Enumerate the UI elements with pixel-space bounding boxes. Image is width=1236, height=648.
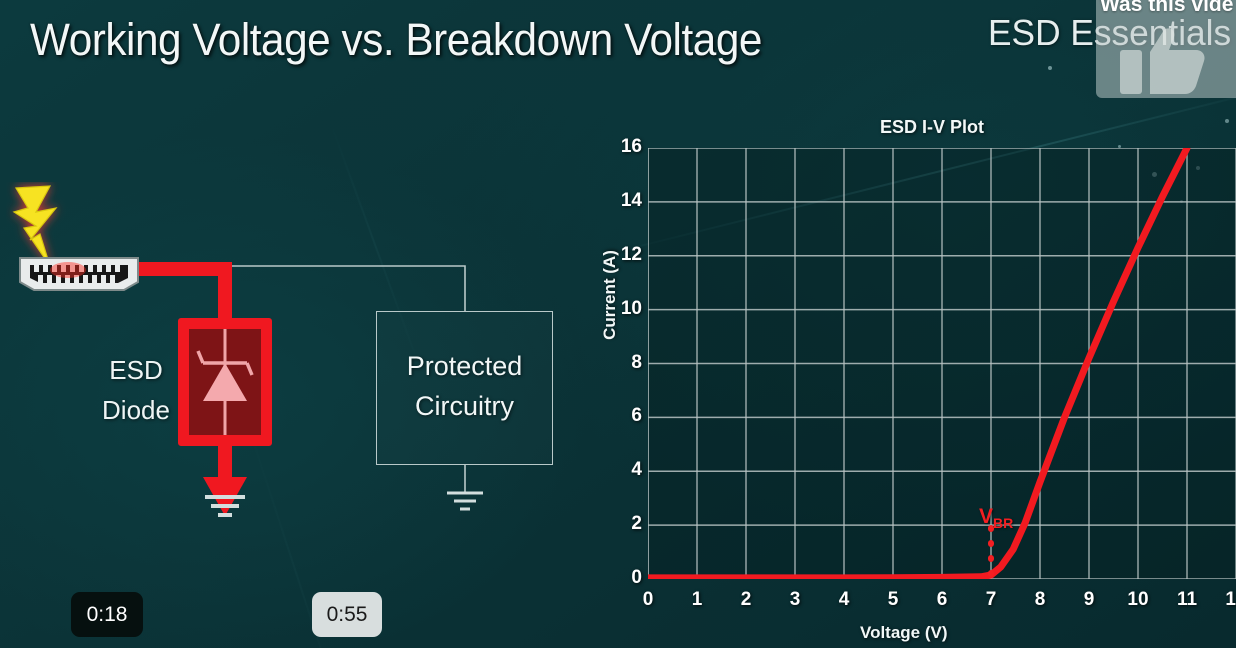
x-axis-tick-label: 9 xyxy=(1069,589,1109,611)
x-axis-tick-label: 0 xyxy=(628,589,668,611)
feedback-overlay[interactable]: Was this vide xyxy=(1096,0,1236,98)
protected-circuitry-block[interactable]: Protected Circuitry xyxy=(376,311,553,465)
circuit-diagram: ESD Diode Protected Circuitry xyxy=(0,0,600,560)
zener-diode-icon xyxy=(189,329,261,435)
protected-circuitry-label: Protected Circuitry xyxy=(377,347,552,427)
x-axis-tick-label: 2 xyxy=(726,589,766,611)
x-axis-label: Voltage (V) xyxy=(860,623,948,643)
x-axis-tick-label: 4 xyxy=(824,589,864,611)
chart-title: ESD I-V Plot xyxy=(880,117,984,138)
hdmi-connector-icon xyxy=(12,252,146,294)
y-axis-tick-label: 12 xyxy=(602,244,642,266)
y-axis-tick-label: 4 xyxy=(602,459,642,481)
background-particle xyxy=(1048,66,1052,70)
x-axis-tick-label: 7 xyxy=(971,589,1011,611)
timestamp-total[interactable]: 0:55 xyxy=(312,592,382,637)
feedback-prompt: Was this vide xyxy=(1100,0,1233,17)
x-axis-tick-label: 12 xyxy=(1216,589,1236,611)
breakdown-voltage-annotation: VBR xyxy=(979,505,1013,531)
x-axis-tick-label: 1 xyxy=(677,589,717,611)
y-axis-tick-label: 16 xyxy=(602,136,642,158)
x-axis-tick-label: 11 xyxy=(1167,589,1207,611)
x-axis-tick-label: 3 xyxy=(775,589,815,611)
vbr-subscript: BR xyxy=(993,515,1013,531)
esd-diode-label: ESD Diode xyxy=(88,350,184,431)
esd-diode-label-line1: ESD xyxy=(88,350,184,390)
plot-area xyxy=(648,148,1236,579)
plot-svg xyxy=(648,148,1236,579)
y-axis-tick-label: 10 xyxy=(602,298,642,320)
timestamp-current[interactable]: 0:18 xyxy=(71,592,143,637)
esd-diode-label-line2: Diode xyxy=(88,390,184,430)
esd-iv-chart: ESD I-V Plot Current (A) Voltage (V) 024… xyxy=(580,105,1236,648)
y-axis-tick-label: 14 xyxy=(602,190,642,212)
x-axis-tick-label: 5 xyxy=(873,589,913,611)
y-axis-ticks: 0246810121416 xyxy=(580,105,642,648)
y-axis-tick-label: 0 xyxy=(602,567,642,589)
esd-diode-component[interactable] xyxy=(178,318,272,446)
y-axis-tick-label: 2 xyxy=(602,513,642,535)
protected-circuitry-label-line1: Protected xyxy=(377,347,552,387)
slide-canvas: Working Voltage vs. Breakdown Voltage ES… xyxy=(0,0,1236,648)
y-axis-tick-label: 8 xyxy=(602,352,642,374)
vbr-symbol: V xyxy=(979,505,993,528)
thumbs-up-icon[interactable] xyxy=(1120,28,1206,94)
x-axis-tick-label: 10 xyxy=(1118,589,1158,611)
y-axis-tick-label: 6 xyxy=(602,405,642,427)
x-axis-tick-label: 8 xyxy=(1020,589,1060,611)
protected-circuitry-label-line2: Circuitry xyxy=(377,387,552,427)
x-axis-tick-label: 6 xyxy=(922,589,962,611)
